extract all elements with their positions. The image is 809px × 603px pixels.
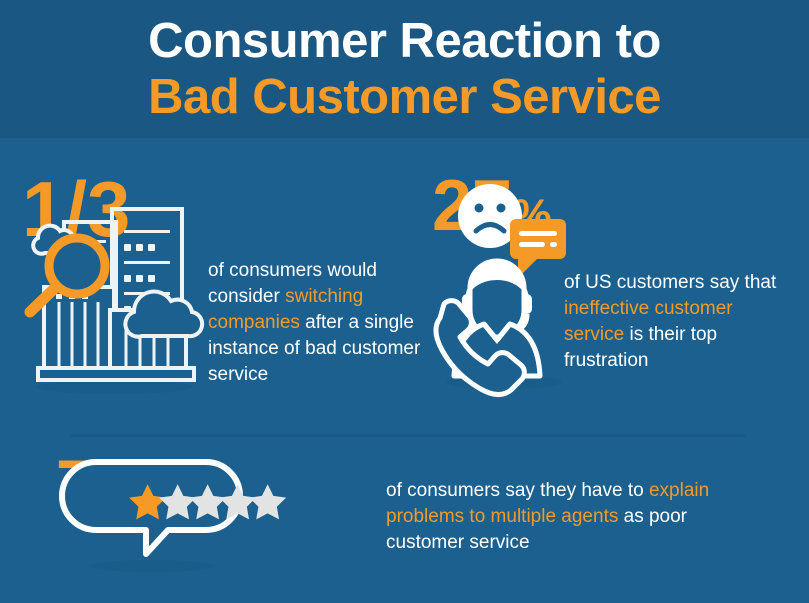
buildings-magnifier-icon: [22, 182, 200, 397]
star-rating-speech-bubble-icon: [56, 456, 246, 574]
stat-copy-1: of consumers would consider switching co…: [208, 258, 428, 388]
stat-copy-2: of US customers say that ineffective cus…: [564, 270, 796, 374]
stat-block-switching-companies: 1/3 of consumers would consider switchin…: [22, 170, 412, 248]
stat-block-ineffective-service: 27% of US customers say that ineffective…: [432, 170, 792, 242]
header-banner: Consumer Reaction to Bad Customer Servic…: [0, 0, 809, 138]
section-divider: [70, 434, 746, 437]
stat-copy-3-seg-0: of consumers say they have to: [386, 480, 649, 501]
infographic-root: Consumer Reaction to Bad Customer Servic…: [0, 0, 809, 603]
stat-copy-2-seg-0: of US customers say that: [564, 272, 776, 293]
stat-block-explain-problems: 72% of consumers say they have to explai…: [56, 450, 756, 516]
support-agent-sad-face-icon: [432, 176, 568, 392]
stat-copy-3: of consumers say they have to explain pr…: [386, 478, 766, 556]
page-title-line-1: Consumer Reaction to: [148, 13, 661, 69]
body-area: 1/3 of consumers would consider switchin…: [0, 138, 809, 603]
page-title-line-2: Bad Customer Service: [148, 69, 661, 125]
